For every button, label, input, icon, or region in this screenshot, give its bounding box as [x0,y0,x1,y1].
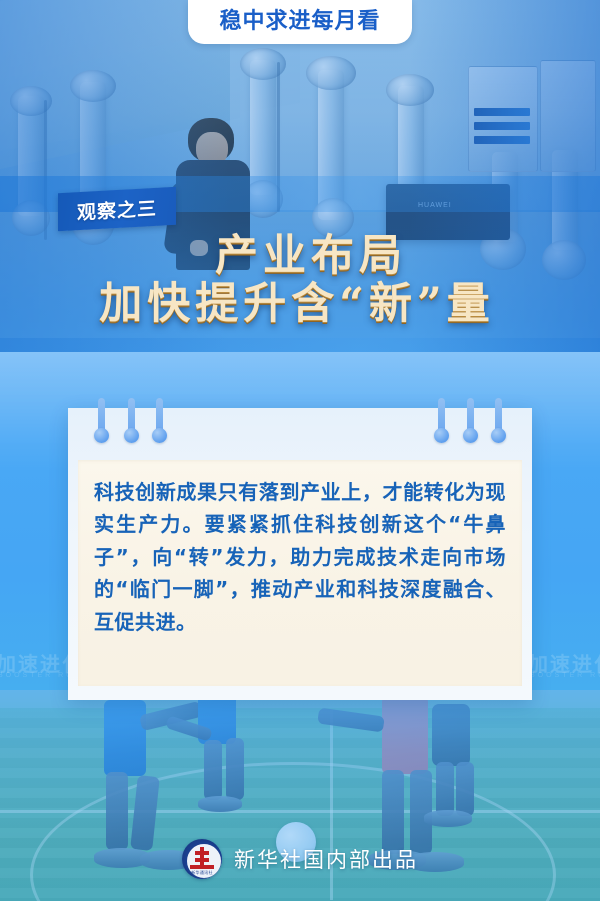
xinhua-logo-icon: 新华通讯社 [182,839,222,879]
card-pin-left-2 [124,398,139,443]
section-ribbon-label: 观察之三 [58,187,176,232]
poster-canvas: HUAWEI 加速进化 BOOSTER ROBOTICS 加速进化 BOOSTE… [0,0,600,901]
logo-emblem-base [190,865,214,869]
logo-emblem [195,847,209,867]
card-pin-right-1 [434,398,449,443]
card-pin-left-1 [94,398,109,443]
title-line-2: 加快提升含“新”量 [0,280,600,328]
pin-head [463,428,478,443]
section-ribbon-tag: 观察之三 [58,187,176,232]
watermark-right-en: BOOSTER ROBOTICS [530,672,600,679]
quote-card: 科技创新成果只有落到产业上，才能转化为现实生产力。要紧紧抓住科技创新这个“牛鼻子… [68,408,532,700]
pin-head [491,428,506,443]
logo-caption: 新华通讯社 [182,870,222,876]
pin-head [152,428,167,443]
pin-head [124,428,139,443]
footer-credit-text: 新华社国内部出品 [234,844,418,874]
card-pin-right-3 [491,398,506,443]
pin-head [434,428,449,443]
page-title: 产业布局 加快提升含“新”量 [0,232,600,328]
title-line-1: 产业布局 [0,232,600,280]
quote-card-inner-panel: 科技创新成果只有落到产业上，才能转化为现实生产力。要紧紧抓住科技创新这个“牛鼻子… [78,460,522,686]
card-pin-left-3 [152,398,167,443]
top-banner-pill: 稳中求进每月看 [188,0,412,44]
card-pin-right-2 [463,398,478,443]
quote-text: 科技创新成果只有落到产业上，才能转化为现实生产力。要紧紧抓住科技创新这个“牛鼻子… [94,476,506,638]
top-banner-label: 稳中求进每月看 [219,11,380,33]
footer: 新华通讯社 新华社国内部出品 [0,836,600,882]
pin-head [94,428,109,443]
